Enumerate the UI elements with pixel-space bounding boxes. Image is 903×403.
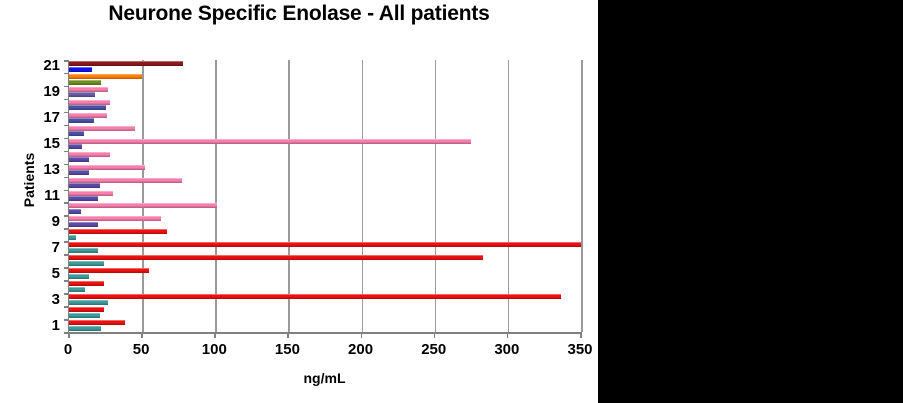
- bar-row: [69, 267, 580, 280]
- bar-row: [69, 60, 580, 73]
- bar-series-b-patient-18[interactable]: [69, 105, 106, 110]
- x-tick-0: [68, 332, 70, 338]
- bar-series-a-patient-2[interactable]: [69, 307, 104, 312]
- x-tick-250: [434, 332, 436, 338]
- x-tick-350: [580, 332, 582, 338]
- bar-row: [69, 215, 580, 228]
- bar-row: [69, 241, 580, 254]
- bar-series-b-patient-16[interactable]: [69, 131, 84, 136]
- bar-series-a-patient-11[interactable]: [69, 191, 113, 196]
- bar-row: [69, 293, 580, 306]
- bar-row: [69, 151, 580, 164]
- bar-row: [69, 254, 580, 267]
- y-tick-label-1: 1: [26, 317, 60, 334]
- bar-row: [69, 319, 580, 332]
- x-tick-label-350: 350: [550, 341, 610, 358]
- bar-row: [69, 86, 580, 99]
- bar-series-b-patient-5[interactable]: [69, 274, 89, 279]
- bar-series-b-patient-7[interactable]: [69, 248, 98, 253]
- bar-series-b-patient-6[interactable]: [69, 261, 104, 266]
- y-tick-label-5: 5: [26, 265, 60, 282]
- bar-row: [69, 202, 580, 215]
- bar-row: [69, 164, 580, 177]
- gridline-350: [581, 60, 583, 332]
- bar-row: [69, 228, 580, 241]
- x-tick-label-300: 300: [477, 341, 537, 358]
- y-tick-label-9: 9: [26, 213, 60, 230]
- plot-area: [68, 60, 580, 332]
- x-axis-line: [68, 332, 581, 334]
- bar-row: [69, 138, 580, 151]
- bar-series-b-patient-15[interactable]: [69, 144, 82, 149]
- y-tick-label-21: 21: [26, 57, 60, 74]
- bar-series-a-patient-21[interactable]: [69, 61, 183, 66]
- bar-row: [69, 125, 580, 138]
- bar-series-b-patient-14[interactable]: [69, 157, 89, 162]
- bar-series-a-patient-8[interactable]: [69, 229, 167, 234]
- bar-series-a-patient-3[interactable]: [69, 294, 561, 299]
- bar-series-a-patient-6[interactable]: [69, 255, 483, 260]
- x-tick-label-250: 250: [404, 341, 464, 358]
- bar-row: [69, 73, 580, 86]
- bar-series-a-patient-12[interactable]: [69, 178, 182, 183]
- bar-series-a-patient-9[interactable]: [69, 216, 161, 221]
- bar-series-b-patient-11[interactable]: [69, 196, 98, 201]
- bar-row: [69, 112, 580, 125]
- x-tick-label-0: 0: [38, 341, 98, 358]
- bar-series-a-patient-19[interactable]: [69, 87, 108, 92]
- bar-series-a-patient-17[interactable]: [69, 113, 107, 118]
- bar-series-b-patient-19[interactable]: [69, 92, 95, 97]
- bar-series-b-patient-12[interactable]: [69, 183, 100, 188]
- bar-series-b-patient-17[interactable]: [69, 118, 94, 123]
- y-tick-label-7: 7: [26, 239, 60, 256]
- bar-row: [69, 99, 580, 112]
- bar-series-a-patient-20[interactable]: [69, 74, 142, 79]
- bars-layer: [69, 60, 580, 332]
- y-tick-label-13: 13: [26, 161, 60, 178]
- x-tick-300: [507, 332, 509, 338]
- x-tick-50: [141, 332, 143, 338]
- chart-title: Neurone Specific Enolase - All patients: [0, 2, 598, 26]
- bar-series-b-patient-21[interactable]: [69, 67, 92, 72]
- bar-series-a-patient-13[interactable]: [69, 165, 145, 170]
- bar-series-b-patient-1[interactable]: [69, 326, 101, 331]
- bar-series-a-patient-7[interactable]: [69, 242, 581, 247]
- bar-series-a-patient-16[interactable]: [69, 126, 135, 131]
- bar-series-b-patient-13[interactable]: [69, 170, 89, 175]
- bar-series-a-patient-1[interactable]: [69, 320, 125, 325]
- bar-series-b-patient-20[interactable]: [69, 80, 101, 85]
- bar-series-a-patient-4[interactable]: [69, 281, 104, 286]
- bar-series-b-patient-4[interactable]: [69, 287, 85, 292]
- x-tick-200: [361, 332, 363, 338]
- bar-series-b-patient-3[interactable]: [69, 300, 108, 305]
- bar-series-b-patient-8[interactable]: [69, 235, 76, 240]
- y-tick-label-3: 3: [26, 291, 60, 308]
- x-tick-100: [214, 332, 216, 338]
- x-axis-title: ng/mL: [68, 370, 581, 386]
- bar-row: [69, 280, 580, 293]
- y-tick-label-17: 17: [26, 109, 60, 126]
- y-tick-label-19: 19: [26, 83, 60, 100]
- bar-series-a-patient-18[interactable]: [69, 100, 110, 105]
- bar-series-a-patient-14[interactable]: [69, 152, 110, 157]
- x-tick-label-200: 200: [331, 341, 391, 358]
- bar-row: [69, 177, 580, 190]
- bar-series-a-patient-10[interactable]: [69, 203, 217, 208]
- x-tick-label-50: 50: [111, 341, 171, 358]
- bar-row: [69, 306, 580, 319]
- bar-series-b-patient-10[interactable]: [69, 209, 81, 214]
- y-tick-label-15: 15: [26, 135, 60, 152]
- bar-series-a-patient-15[interactable]: [69, 139, 471, 144]
- bar-series-b-patient-2[interactable]: [69, 313, 100, 318]
- bar-series-b-patient-9[interactable]: [69, 222, 98, 227]
- y-tick-label-11: 11: [26, 187, 60, 204]
- screenshot-root: Neurone Specific Enolase - All patients …: [0, 0, 903, 403]
- x-tick-150: [287, 332, 289, 338]
- x-tick-label-150: 150: [257, 341, 317, 358]
- chart-canvas: Neurone Specific Enolase - All patients …: [0, 0, 598, 403]
- bar-row: [69, 190, 580, 203]
- bar-series-a-patient-5[interactable]: [69, 268, 149, 273]
- x-tick-label-100: 100: [184, 341, 244, 358]
